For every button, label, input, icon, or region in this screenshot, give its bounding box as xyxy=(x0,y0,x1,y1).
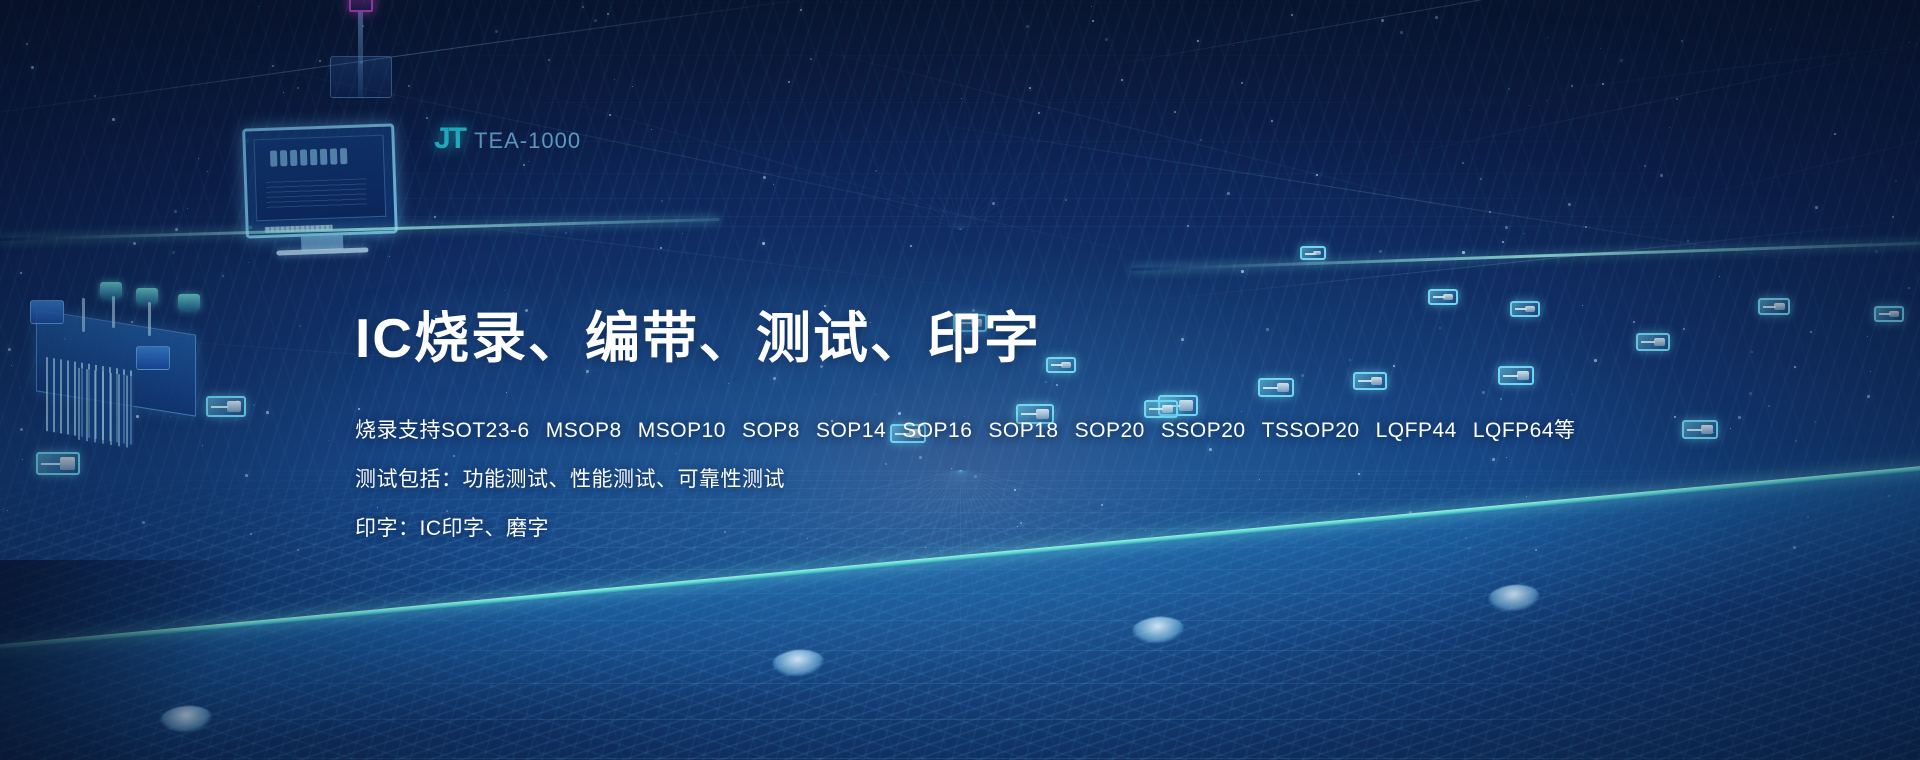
package-sop8: SOP8 xyxy=(742,419,800,442)
particle xyxy=(1241,270,1244,273)
package-sop20: SOP20 xyxy=(1075,419,1145,442)
particle xyxy=(297,87,299,89)
particle xyxy=(207,171,208,172)
particle xyxy=(222,275,224,277)
burn-prefix: 烧录支持SOT23-6 xyxy=(355,419,530,442)
particle xyxy=(875,170,877,172)
ceiling-radial xyxy=(859,12,961,230)
particle xyxy=(1065,199,1067,201)
ceiling-radial xyxy=(796,54,960,230)
particle xyxy=(1757,471,1758,472)
particle xyxy=(1768,405,1770,407)
ic-chip-icon xyxy=(1300,246,1326,260)
test-scope-line: 测试包括：功能测试、性能测试、可靠性测试 xyxy=(355,469,1615,490)
ceiling-gridline xyxy=(0,55,1920,56)
package-msop10: MSOP10 xyxy=(638,419,726,442)
particle xyxy=(202,445,203,446)
package-sop14: SOP14 xyxy=(816,419,886,442)
particle xyxy=(174,210,177,213)
package-sop16: SOP16 xyxy=(902,419,972,442)
particle xyxy=(1121,79,1123,81)
particle xyxy=(840,1,841,2)
ceiling-gridline xyxy=(0,102,1920,103)
particle xyxy=(328,440,329,441)
particle xyxy=(1585,226,1587,228)
screen-chip-row xyxy=(270,148,348,167)
ic-chip-icon xyxy=(1636,333,1670,351)
banner-hero: JT TEA-1000 IC烧录、编带、测试、印字 烧录支持SOT23-6MSO… xyxy=(0,0,1920,760)
package-sop18: SOP18 xyxy=(988,419,1058,442)
particle xyxy=(1683,328,1685,330)
particle xyxy=(961,98,962,99)
particle xyxy=(661,200,663,202)
particle xyxy=(1795,440,1797,442)
ceiling-radial xyxy=(960,95,1160,230)
particle xyxy=(1834,133,1836,135)
particle xyxy=(1908,287,1910,289)
particle xyxy=(992,202,995,205)
particle xyxy=(899,252,900,253)
screen-scanlines xyxy=(266,178,367,210)
particle xyxy=(614,79,615,80)
brand-model: TEA-1000 xyxy=(474,128,581,154)
ic-chip-icon xyxy=(1758,298,1790,315)
marking-line: 印字：IC印字、磨字 xyxy=(355,518,1615,539)
ceiling-radial xyxy=(894,0,961,230)
particle xyxy=(1867,395,1870,398)
machinery-illustration xyxy=(8,280,204,440)
sensor-post xyxy=(358,12,363,98)
particle xyxy=(1633,321,1635,323)
light-beam xyxy=(700,20,1574,239)
ceiling-radial xyxy=(771,82,961,230)
particle xyxy=(253,404,255,406)
package-ssop20: SSOP20 xyxy=(1161,419,1246,442)
particle xyxy=(1620,59,1623,62)
monitor-bezel xyxy=(242,123,398,238)
particle xyxy=(1480,178,1482,180)
particle xyxy=(22,459,23,460)
particle xyxy=(266,411,269,414)
particle xyxy=(651,129,652,130)
particle xyxy=(1730,428,1731,429)
particle xyxy=(1815,206,1818,209)
particle xyxy=(810,58,812,60)
particle xyxy=(1227,192,1230,195)
particle xyxy=(528,161,529,162)
machine-cap-a xyxy=(100,282,122,298)
particle xyxy=(925,547,926,548)
sensor-icon xyxy=(349,0,373,12)
particle xyxy=(299,325,301,327)
particle xyxy=(504,290,505,291)
particle xyxy=(762,242,765,245)
particle xyxy=(250,533,252,535)
floor-gridline xyxy=(0,758,1920,759)
machine-tube-b xyxy=(112,296,115,328)
particle xyxy=(582,6,584,8)
particle xyxy=(607,13,609,15)
particle xyxy=(1271,120,1273,122)
page-title: IC烧录、编带、测试、印字 xyxy=(355,310,1615,368)
particle xyxy=(272,65,274,67)
particle xyxy=(1091,6,1092,7)
monitor-icon xyxy=(242,123,398,238)
package-msop8: MSOP8 xyxy=(546,419,622,442)
particle xyxy=(142,521,145,524)
light-beam xyxy=(1150,218,1920,301)
particle xyxy=(1738,416,1741,419)
ic-chip-icon xyxy=(206,396,246,417)
particle xyxy=(565,232,567,234)
particle xyxy=(1489,211,1491,213)
ceiling-radial xyxy=(931,0,961,230)
ceiling-radial xyxy=(960,4,1043,230)
particle xyxy=(1470,109,1471,110)
ceiling-radial xyxy=(750,113,960,230)
particle xyxy=(609,114,611,116)
particle xyxy=(297,549,299,551)
particle xyxy=(1770,29,1771,30)
particle xyxy=(1719,276,1720,277)
upper-rail-right xyxy=(1130,241,1920,271)
particle xyxy=(1681,40,1683,42)
particle xyxy=(426,117,428,119)
ceiling-radial xyxy=(735,147,961,230)
particle xyxy=(1197,40,1199,42)
particle xyxy=(1233,45,1234,46)
ceiling-radial xyxy=(960,66,1136,230)
particle xyxy=(1524,233,1525,234)
light-beam xyxy=(1640,108,1920,211)
particle xyxy=(175,228,178,231)
particle xyxy=(1867,336,1868,337)
particle xyxy=(408,85,410,87)
particle xyxy=(1508,88,1510,90)
particle xyxy=(245,474,248,477)
equipment-brand: JT TEA-1000 xyxy=(434,122,581,156)
particle xyxy=(94,95,96,97)
particle xyxy=(1435,16,1438,19)
ceiling-gridline xyxy=(0,2,1920,3)
machine-fins-b xyxy=(78,368,132,449)
particle xyxy=(660,247,662,249)
particle xyxy=(1379,250,1382,253)
particle xyxy=(1582,305,1583,306)
particle xyxy=(198,158,199,159)
particle xyxy=(187,208,188,209)
particle xyxy=(1916,43,1917,44)
brand-name: JT xyxy=(434,122,465,156)
light-beam xyxy=(1500,33,1920,97)
ic-chip-icon xyxy=(1682,420,1718,439)
particle xyxy=(682,233,683,234)
particle xyxy=(283,92,284,93)
particle xyxy=(1568,203,1571,206)
light-beam xyxy=(1330,24,1920,171)
particle xyxy=(1875,250,1878,253)
particle xyxy=(1381,19,1384,22)
particle xyxy=(1030,90,1031,91)
machine-tube-c xyxy=(148,302,151,336)
particle xyxy=(7,510,8,511)
particle xyxy=(31,66,34,69)
particle xyxy=(319,60,321,62)
particle xyxy=(1241,82,1243,84)
particle xyxy=(1810,331,1812,333)
particle xyxy=(248,262,249,263)
particle xyxy=(1644,165,1646,167)
ceiling-radial xyxy=(826,31,961,230)
machine-tube-a xyxy=(82,298,85,332)
particle xyxy=(1687,240,1689,242)
particle xyxy=(773,184,774,185)
particle xyxy=(133,242,136,245)
particle xyxy=(398,43,399,44)
particle xyxy=(112,118,115,121)
particle xyxy=(1749,392,1752,395)
particle xyxy=(763,176,766,179)
ic-chip-icon xyxy=(36,452,80,475)
particle xyxy=(1038,112,1040,114)
particle xyxy=(1174,111,1176,113)
particle xyxy=(1505,226,1508,229)
particle xyxy=(1400,31,1403,34)
ceiling-radial xyxy=(960,20,1077,230)
particle xyxy=(1892,216,1894,218)
particle xyxy=(1660,174,1663,177)
particle xyxy=(1571,85,1573,87)
ceiling-radial xyxy=(960,0,969,230)
monitor-screen xyxy=(254,135,387,221)
particle xyxy=(1117,107,1118,108)
burn-support-line: 烧录支持SOT23-6MSOP8MSOP10SOP8SOP14SOP16SOP1… xyxy=(355,420,1615,441)
particle xyxy=(1676,98,1678,100)
particle xyxy=(1502,241,1504,243)
particle xyxy=(1105,38,1108,41)
particle xyxy=(26,43,28,45)
ceiling-radial xyxy=(960,0,1007,230)
particle xyxy=(1029,87,1031,89)
light-beam xyxy=(0,0,831,121)
particle xyxy=(1870,371,1871,372)
particle xyxy=(258,6,259,7)
particle xyxy=(1187,225,1189,227)
particle xyxy=(1291,14,1293,16)
particle xyxy=(1600,48,1601,49)
monitor-base xyxy=(277,247,368,255)
particle xyxy=(1751,351,1753,353)
particle xyxy=(1669,127,1670,128)
particle xyxy=(1026,25,1029,28)
package-tssop20: TSSOP20 xyxy=(1262,419,1360,442)
particle xyxy=(1200,139,1202,141)
ceiling-radial xyxy=(960,41,1109,230)
particle xyxy=(20,272,22,274)
machine-box-a xyxy=(30,300,64,324)
particle xyxy=(1674,416,1676,418)
particle xyxy=(1794,366,1796,368)
particle xyxy=(495,30,498,33)
particle xyxy=(389,256,390,257)
particle xyxy=(1546,100,1547,101)
particle xyxy=(788,81,790,83)
particle xyxy=(523,164,525,166)
particle xyxy=(910,245,912,247)
machine-cap-c xyxy=(178,294,200,310)
particle xyxy=(172,251,175,254)
particle xyxy=(434,216,436,218)
machine-cap-b xyxy=(136,288,158,304)
particle xyxy=(1602,83,1604,85)
particle xyxy=(1547,37,1548,38)
hero-copy: IC烧录、编带、测试、印字 烧录支持SOT23-6MSOP8MSOP10SOP8… xyxy=(355,310,1615,539)
particle xyxy=(1529,105,1530,106)
ceiling-radial xyxy=(960,128,1178,230)
particle xyxy=(1092,20,1094,22)
particle xyxy=(940,550,941,551)
particle xyxy=(1462,251,1465,254)
ic-chip-icon xyxy=(1874,306,1904,322)
particle xyxy=(1316,174,1318,176)
particle xyxy=(1462,162,1464,164)
particle xyxy=(1814,421,1816,423)
light-beam xyxy=(1080,0,1920,71)
ic-chip-icon xyxy=(1428,289,1458,305)
package-lqfp44: LQFP44 xyxy=(1376,419,1457,442)
particle xyxy=(594,19,597,22)
machine-box-b xyxy=(136,346,170,370)
particle xyxy=(800,9,802,11)
particle xyxy=(1895,180,1897,182)
package-lqfp64等: LQFP64等 xyxy=(1473,419,1576,442)
particle xyxy=(632,86,633,87)
particle xyxy=(548,59,550,61)
particle xyxy=(1909,42,1910,43)
